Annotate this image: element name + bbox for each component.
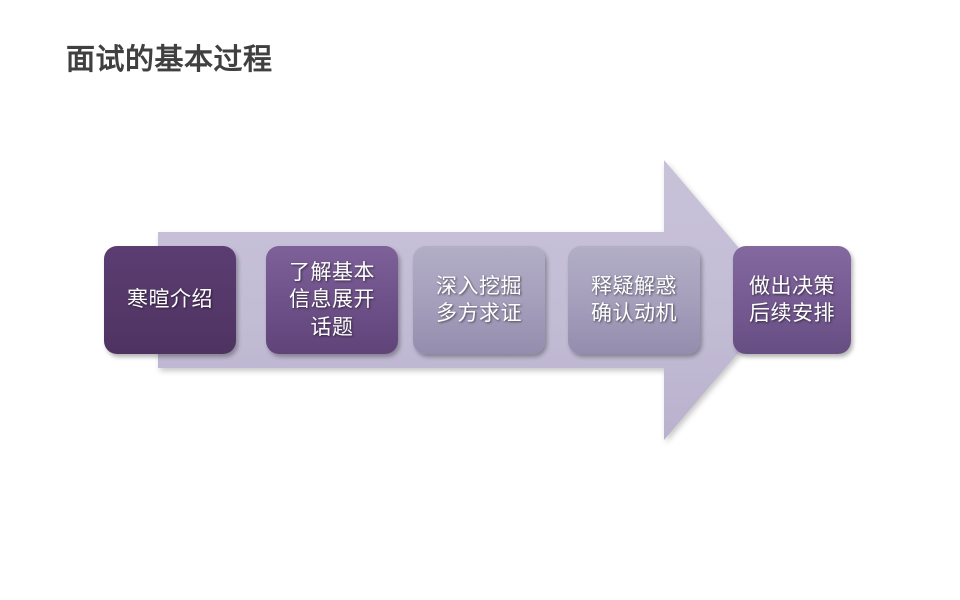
process-steps: 寒暄介绍 了解基本 信息展开 话题 深入挖掘 多方求证 释疑解惑 确认动机 做出… [0, 0, 960, 600]
process-step-2[interactable]: 了解基本 信息展开 话题 [266, 246, 398, 354]
process-step-5[interactable]: 做出决策 后续安排 [733, 246, 851, 354]
process-step-3-label: 深入挖掘 多方求证 [430, 273, 528, 328]
process-step-5-label: 做出决策 后续安排 [743, 273, 841, 328]
process-step-1[interactable]: 寒暄介绍 [104, 246, 236, 354]
process-step-4-label: 释疑解惑 确认动机 [585, 273, 683, 328]
process-step-2-label: 了解基本 信息展开 话题 [283, 259, 381, 341]
slide-canvas: 面试的基本过程 寒暄介绍 了解基本 信息展开 话题 深入挖掘 多方求证 释疑 [0, 0, 960, 600]
process-step-3[interactable]: 深入挖掘 多方求证 [413, 246, 545, 354]
process-step-1-label: 寒暄介绍 [121, 286, 219, 313]
process-step-4[interactable]: 释疑解惑 确认动机 [568, 246, 700, 354]
